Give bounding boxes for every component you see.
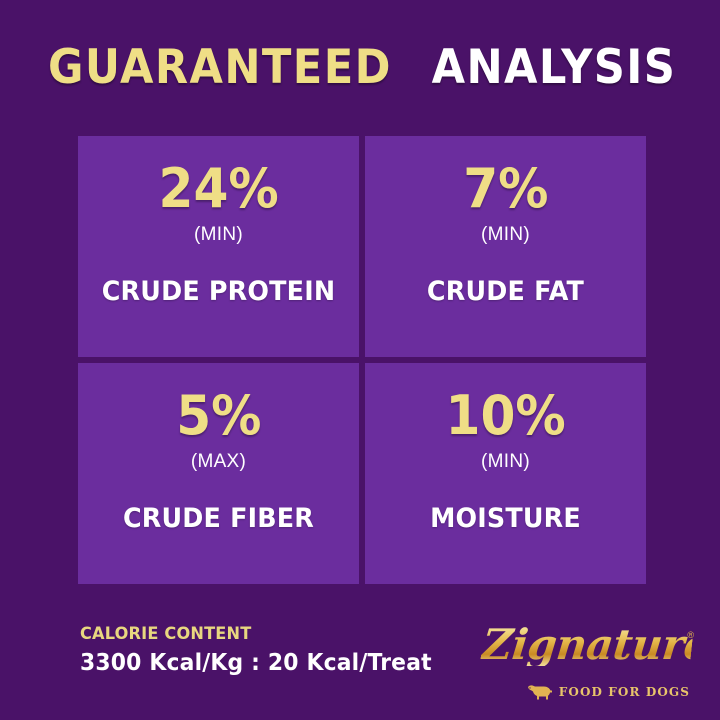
dog-silhouette-icon — [527, 684, 553, 700]
nutrient-value: 7% — [463, 162, 548, 216]
nutrient-value: 5% — [176, 389, 261, 443]
analysis-cell-crude-fiber: 5% (MAX) CRUDE FIBER — [78, 363, 359, 584]
calorie-content-block: CALORIE CONTENT 3300 Kcal/Kg : 20 Kcal/T… — [80, 626, 450, 675]
nutrient-label: CRUDE PROTEIN — [86, 278, 350, 305]
nutrient-qualifier: (MIN) — [481, 225, 530, 244]
page-title: GUARANTEEDANALYSIS — [0, 44, 720, 91]
brand-logo: Zignature ® FOOD FOR DOGS — [482, 624, 692, 702]
analysis-cell-crude-fat: 7% (MIN) CRUDE FAT — [365, 136, 646, 357]
nutrient-qualifier: (MIN) — [481, 452, 530, 471]
nutrient-qualifier: (MIN) — [194, 225, 243, 244]
calorie-content-title: CALORIE CONTENT — [80, 626, 432, 643]
brand-tagline: FOOD FOR DOGS — [559, 686, 690, 698]
guaranteed-analysis-panel: GUARANTEEDANALYSIS 24% (MIN) CRUDE PROTE… — [0, 0, 720, 720]
nutrient-label: MOISTURE — [373, 505, 637, 532]
calorie-content-value: 3300 Kcal/Kg : 20 Kcal/Treat — [80, 652, 432, 675]
brand-tagline-row: FOOD FOR DOGS — [527, 684, 690, 700]
analysis-cell-moisture: 10% (MIN) MOISTURE — [365, 363, 646, 584]
nutrient-label: CRUDE FAT — [373, 278, 637, 305]
nutrient-label: CRUDE FIBER — [86, 505, 350, 532]
nutrient-value: 10% — [445, 389, 565, 443]
nutrient-qualifier: (MAX) — [191, 452, 246, 471]
analysis-cell-crude-protein: 24% (MIN) CRUDE PROTEIN — [78, 136, 359, 357]
nutrient-value: 24% — [158, 162, 278, 216]
brand-wordmark: Zignature — [480, 624, 694, 666]
analysis-grid: 24% (MIN) CRUDE PROTEIN 7% (MIN) CRUDE F… — [78, 136, 646, 584]
page-title-gold-word: GUARANTEED — [48, 44, 392, 91]
registered-trademark-icon: ® — [687, 630, 694, 640]
page-title-white-word: ANALYSIS — [432, 44, 677, 91]
